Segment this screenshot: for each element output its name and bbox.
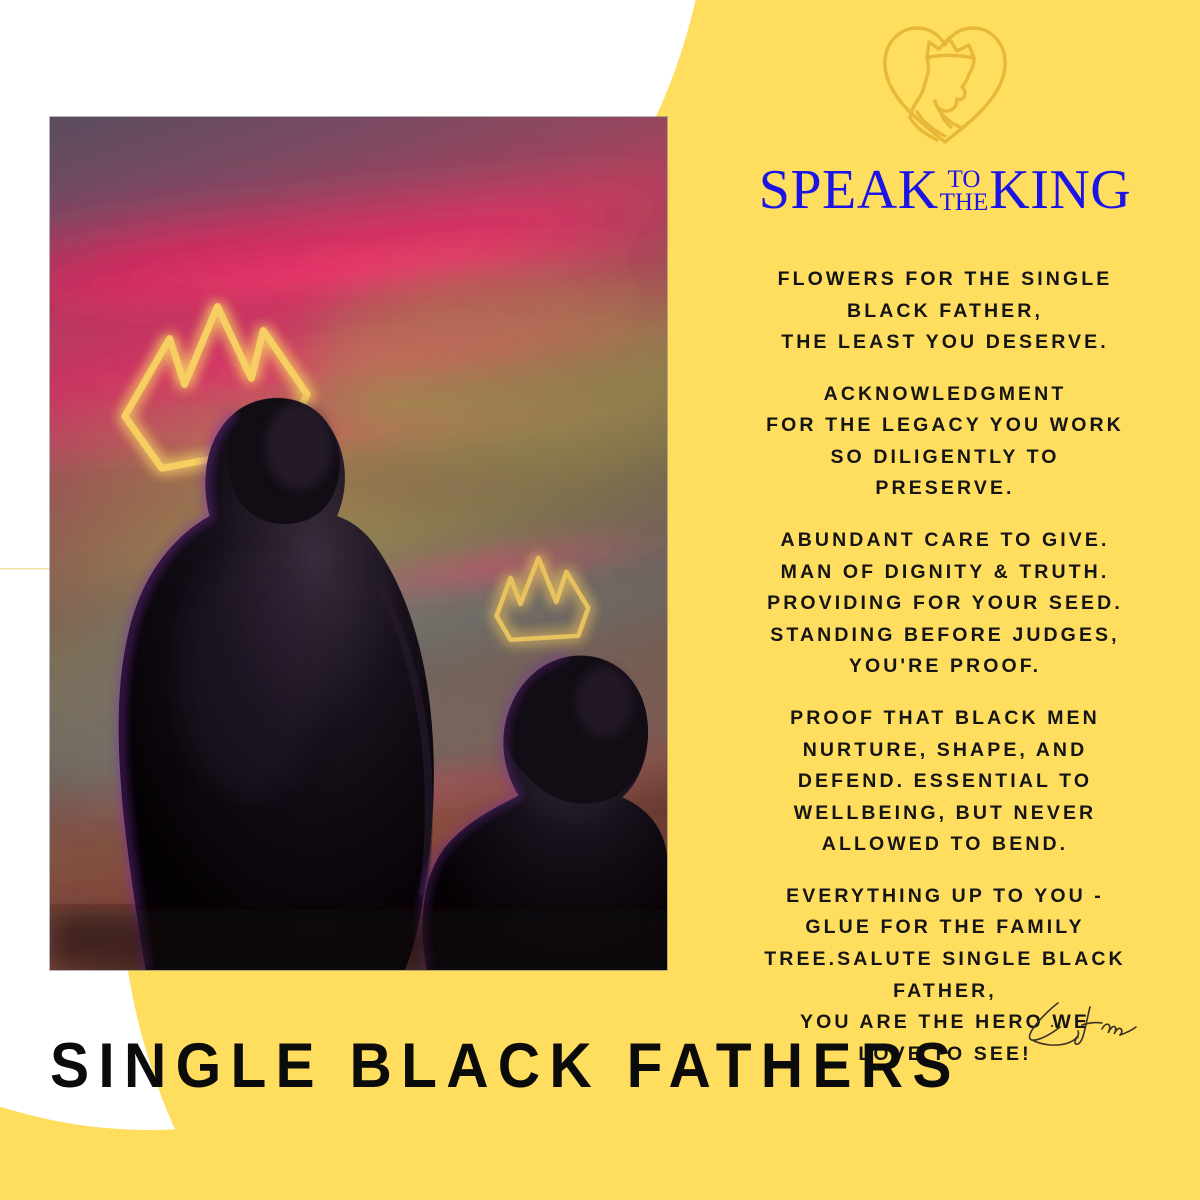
wordmark-speak: SPEAK <box>759 162 939 218</box>
content-column: SPEAK TO THE KING FLOWERS FOR THE SINGLE… <box>690 0 1200 1060</box>
poem-stanza: ABUNDANT CARE TO GIVE.MAN OF DIGNITY & T… <box>710 525 1180 683</box>
wordmark-to-the: TO THE <box>940 168 989 215</box>
handwritten-signature <box>1020 995 1160 1057</box>
poem-line: PROOF THAT BLACK MEN <box>710 703 1180 735</box>
poem-line: MAN OF DIGNITY & TRUTH. <box>710 557 1180 589</box>
wordmark-the: THE <box>940 191 989 215</box>
poem-body: FLOWERS FOR THE SINGLEBLACK FATHER,THE L… <box>710 264 1180 1090</box>
poem-stanza: FLOWERS FOR THE SINGLEBLACK FATHER,THE L… <box>710 264 1180 359</box>
illustration-canvas <box>50 117 667 970</box>
left-hairline <box>0 568 52 569</box>
poem-line: ALLOWED TO BEND. <box>710 829 1180 861</box>
signature-svg <box>1020 995 1160 1057</box>
poem-line: YOU'RE PROOF. <box>710 651 1180 683</box>
poem-line: FOR THE LEGACY YOU WORK <box>710 410 1180 442</box>
page-title: SINGLE BLACK FATHERS <box>50 1035 961 1098</box>
poem-line: BLACK FATHER, <box>710 296 1180 328</box>
poem-line: STANDING BEFORE JUDGES, <box>710 620 1180 652</box>
illustration-image <box>49 116 668 971</box>
logo-svg <box>877 18 1013 150</box>
wordmark-to: TO <box>948 168 981 192</box>
poem-line: TREE.SALUTE SINGLE BLACK <box>710 944 1180 976</box>
poem-line: SO DILIGENTLY TO <box>710 442 1180 474</box>
poem-line: PRESERVE. <box>710 473 1180 505</box>
wordmark-king: KING <box>989 162 1131 218</box>
poem-line: THE LEAST YOU DESERVE. <box>710 327 1180 359</box>
poem-line: ACKNOWLEDGMENT <box>710 379 1180 411</box>
poem-stanza: PROOF THAT BLACK MENNURTURE, SHAPE, ANDD… <box>710 703 1180 861</box>
poem-line: EVERYTHING UP TO YOU - <box>710 881 1180 913</box>
poem-line: FLOWERS FOR THE SINGLE <box>710 264 1180 296</box>
poem-line: NURTURE, SHAPE, AND <box>710 735 1180 767</box>
poem-line: WELLBEING, BUT NEVER <box>710 798 1180 830</box>
poem-stanza: ACKNOWLEDGMENTFOR THE LEGACY YOU WORKSO … <box>710 379 1180 505</box>
poem-line: DEFEND. ESSENTIAL TO <box>710 766 1180 798</box>
poem-line: PROVIDING FOR YOUR SEED. <box>710 588 1180 620</box>
poem-line: ABUNDANT CARE TO GIVE. <box>710 525 1180 557</box>
heart-king-crown-icon <box>877 18 1013 150</box>
poem-line: GLUE FOR THE FAMILY <box>710 912 1180 944</box>
brand-wordmark: SPEAK TO THE KING <box>759 162 1131 218</box>
